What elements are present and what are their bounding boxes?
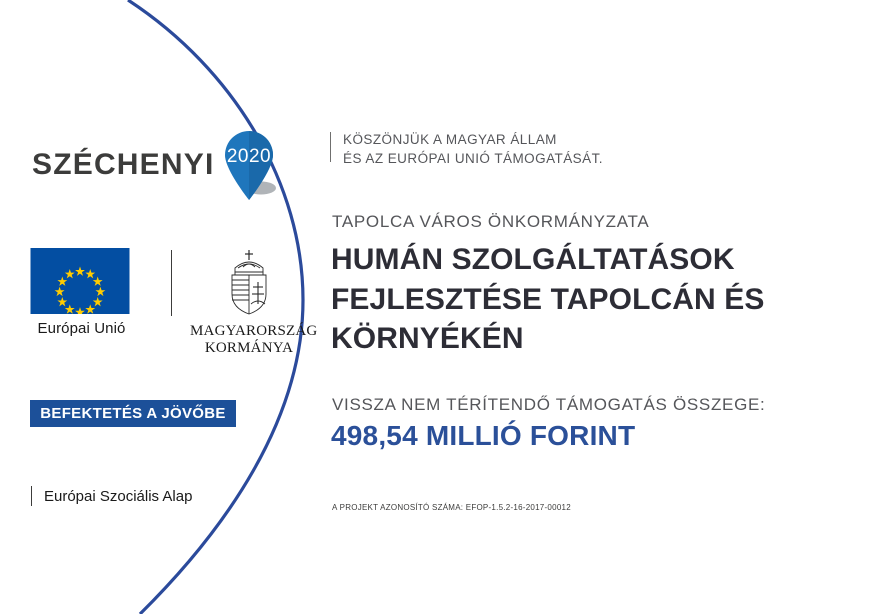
hungary-government-block: MAGYARORSZÁG KORMÁNYA: [190, 246, 308, 357]
eu-flag-icon: [30, 248, 130, 314]
szechenyi-2020-logo: SZÉCHENYI 2020: [32, 128, 283, 202]
thanks-block: KÖSZÖNJÜK A MAGYAR ÁLLAM ÉS AZ EURÓPAI U…: [330, 131, 603, 168]
thanks-line2: ÉS AZ EURÓPAI UNIÓ TÁMOGATÁSÁT.: [343, 150, 603, 169]
thanks-line1: KÖSZÖNJÜK A MAGYAR ÁLLAM: [343, 131, 603, 150]
page-title: HUMÁN SZOLGÁLTATÁSOK FEJLESZTÉSE TAPOLCÁ…: [331, 240, 801, 359]
grant-amount: 498,54 MILLIÓ FORINT: [331, 420, 635, 452]
svg-text:2020: 2020: [226, 146, 270, 167]
right-content-column: KÖSZÖNJÜK A MAGYAR ÁLLAM ÉS AZ EURÓPAI U…: [330, 0, 870, 614]
emblem-row: Európai Unió: [30, 248, 280, 348]
emblem-divider: [171, 250, 172, 316]
fund-rule: [31, 486, 32, 506]
szechenyi-wordmark: SZÉCHENYI: [32, 150, 215, 180]
invest-in-future-badge: BEFEKTETÉS A JÖVŐBE: [30, 400, 236, 427]
project-title-line3: KÖRNYÉKÉN: [331, 319, 801, 359]
project-title-line1: HUMÁN SZOLGÁLTATÁSOK: [331, 240, 801, 280]
map-pin-icon: 2020: [221, 128, 283, 202]
project-title-line2: FEJLESZTÉSE TAPOLCÁN ÉS: [331, 280, 801, 320]
grant-label: VISSZA NEM TÉRÍTENDŐ TÁMOGATÁS ÖSSZEGE:: [332, 395, 765, 415]
project-identifier: A PROJEKT AZONOSÍTÓ SZÁMA: EFOP-1.5.2-16…: [332, 503, 571, 512]
fund-label: Európai Szociális Alap: [44, 488, 192, 505]
project-owner: TAPOLCA VÁROS ÖNKORMÁNYZATA: [332, 212, 649, 232]
eu-caption: Európai Unió: [30, 320, 133, 337]
fund-line: Európai Szociális Alap: [31, 486, 192, 506]
thanks-rule: [330, 132, 331, 162]
left-branding-column: SZÉCHENYI 2020: [0, 0, 320, 614]
hungary-caption: MAGYARORSZÁG KORMÁNYA: [190, 323, 308, 357]
thanks-text: KÖSZÖNJÜK A MAGYAR ÁLLAM ÉS AZ EURÓPAI U…: [343, 131, 603, 168]
szechenyi-2020-project-board: SZÉCHENYI 2020: [0, 0, 883, 614]
hungary-caption-line2: KORMÁNYA: [190, 340, 308, 357]
hungary-caption-line1: MAGYARORSZÁG: [190, 323, 308, 340]
hungary-coat-of-arms-icon: [222, 246, 276, 316]
eu-flag-block: Európai Unió: [30, 248, 133, 337]
